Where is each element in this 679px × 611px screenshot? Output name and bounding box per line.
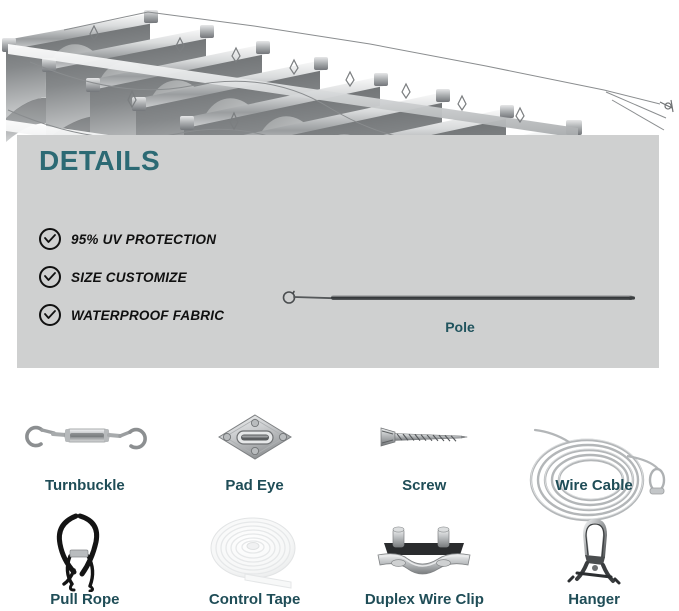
feature-item: 95% UV PROTECTION: [39, 227, 339, 251]
feature-label: WATERPROOF FABRIC: [71, 308, 224, 323]
pad-eye-icon: [170, 399, 340, 475]
accessory-row: Pull Rope: [0, 490, 679, 608]
accessory-item-hanger: Hanger: [509, 490, 679, 608]
accessory-item-pull-rope: Pull Rope: [0, 490, 170, 608]
accessory-item-wire-cable: Wire Cable: [509, 376, 679, 494]
control-tape-icon: [170, 513, 340, 589]
accessory-row: Turnbuckle: [0, 376, 679, 494]
duplex-wire-clip-icon: [340, 513, 510, 589]
check-circle-icon: [39, 228, 61, 250]
end-turnbuckle: [660, 100, 673, 112]
accessory-item-screw: Screw: [339, 376, 509, 494]
pole-icon: [275, 283, 645, 317]
details-panel: DETAILS 95% UV PROTECTION SIZE CUSTOMIZE…: [17, 135, 659, 368]
details-title: DETAILS: [39, 145, 160, 177]
accessories-section: Turnbuckle: [0, 372, 679, 611]
accessory-label: Turnbuckle: [45, 477, 125, 494]
accessory-label: Duplex Wire Clip: [365, 591, 484, 608]
accessory-item-control-tape: Control Tape: [170, 490, 340, 608]
accessory-label: Pull Rope: [50, 591, 119, 608]
turnbuckle-icon: [0, 399, 170, 475]
accessory-label: Control Tape: [209, 591, 300, 608]
hanger-icon: [509, 513, 679, 589]
feature-label: 95% UV PROTECTION: [71, 232, 216, 247]
pole-illustration-wrap: Pole: [275, 283, 645, 353]
accessory-item-turnbuckle: Turnbuckle: [0, 376, 170, 494]
accessory-label: Pad Eye: [225, 477, 283, 494]
pull-rope-icon: [0, 513, 170, 589]
accessory-item-duplex-wire-clip: Duplex Wire Clip: [340, 490, 510, 608]
check-circle-icon: [39, 304, 61, 326]
check-circle-icon: [39, 266, 61, 288]
accessory-label: Screw: [402, 477, 446, 494]
screw-icon: [339, 399, 509, 475]
pole-label: Pole: [275, 319, 645, 335]
infographic-root: DETAILS 95% UV PROTECTION SIZE CUSTOMIZE…: [0, 0, 679, 611]
accessory-label: Hanger: [568, 591, 620, 608]
accessory-item-pad-eye: Pad Eye: [170, 376, 340, 494]
accessory-label: Wire Cable: [555, 477, 632, 494]
feature-label: SIZE CUSTOMIZE: [71, 270, 187, 285]
